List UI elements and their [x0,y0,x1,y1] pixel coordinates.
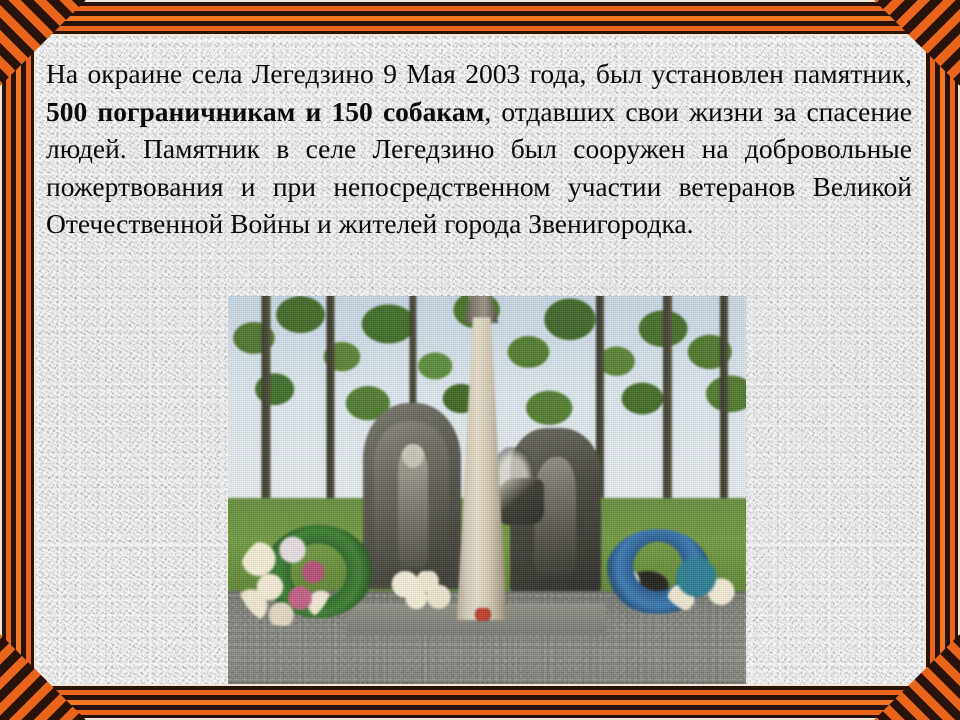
wreath-teal [663,552,746,614]
body-paragraph: На окраине села Легедзино 9 Мая 2003 год… [46,55,912,243]
soldier-relief-figure [398,444,428,567]
paragraph-part-1: На окраине села Легедзино 9 Мая 2003 год… [46,58,912,89]
memorial-ribbon-drape [497,478,544,525]
ribbon-border-top [0,0,960,36]
memorial-photo [228,296,746,684]
memorial-photo-scene [228,296,746,684]
ribbon-border-bottom [0,684,960,720]
ribbon-border-left [0,0,36,720]
flowers-white-center [389,571,451,610]
stele-left-soldier [363,403,461,589]
flower-red-carnation [474,608,492,620]
paragraph-bold-highlight: 500 пограничникам и 150 собакам [46,96,484,127]
slide: На окраине села Легедзино 9 Мая 2003 год… [0,0,960,720]
wreath-white-flowers [238,533,331,626]
ribbon-border-right [924,0,960,720]
